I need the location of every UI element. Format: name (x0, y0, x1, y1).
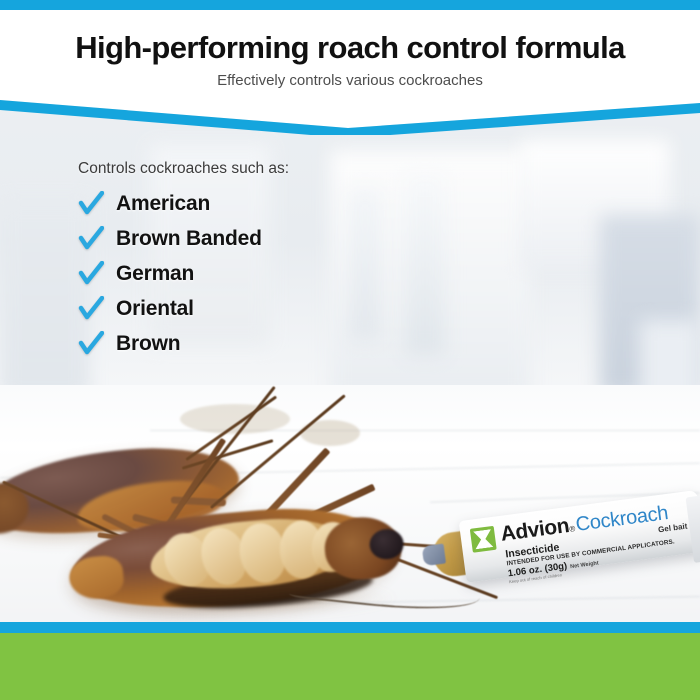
list-item: Brown (78, 331, 408, 357)
product-line-name: Cockroach (575, 503, 670, 535)
list-item-label: German (116, 262, 194, 286)
list-item-label: American (116, 192, 210, 216)
list-item-label: Oriental (116, 297, 194, 321)
top-accent-bar (0, 0, 700, 10)
registered-trademark-icon: ® (569, 524, 576, 534)
checkmark-icon (78, 331, 104, 357)
blurred-cabinet-7 (0, 200, 90, 400)
list-item: American (78, 191, 408, 217)
list-item-label: Brown Banded (116, 227, 262, 251)
list-item: Oriental (78, 296, 408, 322)
brand-name: Advion (499, 515, 570, 545)
list-item: German (78, 261, 408, 287)
page-title: High-performing roach control formula (0, 30, 700, 66)
checkmark-icon (78, 191, 104, 217)
net-weight-label: Net Weight (570, 560, 599, 570)
checkmark-icon (78, 226, 104, 252)
feature-checklist: Controls cockroaches such as: American B… (78, 160, 408, 366)
page-subtitle: Effectively controls various cockroaches (0, 72, 700, 89)
blurred-cabinet-4 (405, 175, 445, 355)
checkmark-icon (78, 296, 104, 322)
list-item-label: Brown (116, 332, 180, 356)
list-item: Brown Banded (78, 226, 408, 252)
brand-lockup: Advion®Cockroach (499, 502, 669, 545)
bottom-green-band (0, 633, 700, 700)
advion-logo-icon (470, 526, 497, 553)
bottom-accent-bar (0, 622, 700, 633)
checklist-heading: Controls cockroaches such as: (78, 160, 408, 178)
tube-nozzle-tip (422, 544, 446, 567)
product-infographic: Advion®Cockroach Gel bait Insecticide IN… (0, 0, 700, 700)
checkmark-icon (78, 261, 104, 287)
